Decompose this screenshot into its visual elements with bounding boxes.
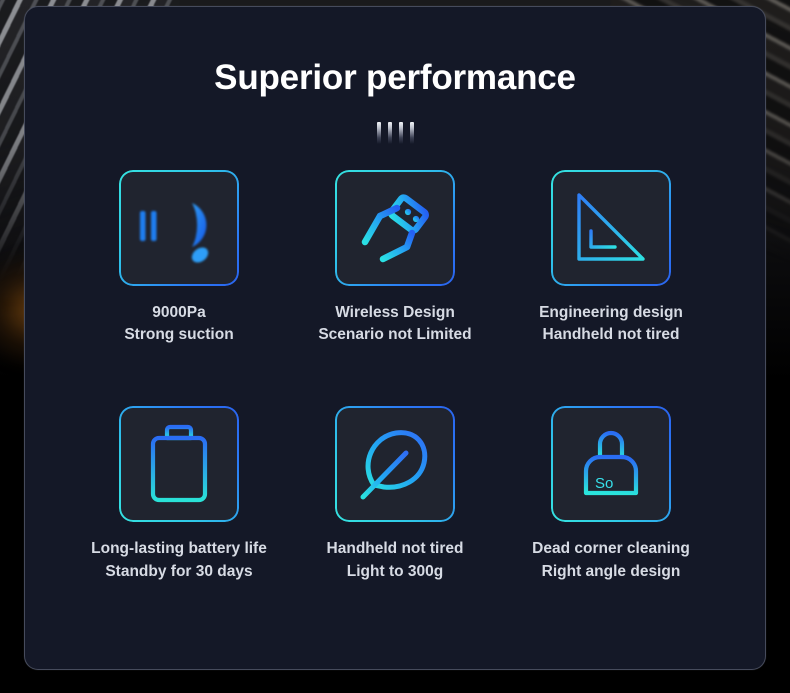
feature-item: Handheld not tired Light to 300g bbox=[287, 406, 503, 583]
decorative-ticks bbox=[25, 122, 765, 144]
feature-caption: 9000Pa Strong suction bbox=[124, 302, 233, 347]
feature-icon-card[interactable] bbox=[335, 170, 455, 286]
feature-line-2: Scenario not Limited bbox=[318, 324, 471, 346]
tick-mark bbox=[399, 122, 403, 144]
page-title: Superior performance bbox=[25, 59, 765, 98]
feature-line-2: Handheld not tired bbox=[539, 324, 683, 346]
battery-icon bbox=[144, 423, 214, 505]
set-square-triangle-icon bbox=[571, 189, 651, 267]
feature-item: Long-lasting battery life Standby for 30… bbox=[71, 406, 287, 583]
feature-line-1: Handheld not tired bbox=[327, 540, 464, 557]
feature-item: Engineering design Handheld not tired bbox=[503, 170, 719, 347]
feature-grid: 9000Pa Strong suction bbox=[25, 170, 765, 584]
feature-icon-card[interactable] bbox=[119, 170, 239, 286]
feature-line-1: Engineering design bbox=[539, 304, 683, 321]
feature-line-2: Right angle design bbox=[532, 561, 690, 583]
feature-icon-card[interactable] bbox=[335, 406, 455, 522]
feature-caption: Handheld not tired Light to 300g bbox=[327, 538, 464, 583]
feature-item: So Dead corner cleaning Right angle desi… bbox=[503, 406, 719, 583]
tick-mark bbox=[377, 122, 381, 144]
tick-mark bbox=[388, 122, 392, 144]
feature-caption: Dead corner cleaning Right angle design bbox=[532, 538, 690, 583]
feature-icon-card[interactable] bbox=[551, 170, 671, 286]
feature-line-2: Standby for 30 days bbox=[91, 561, 267, 583]
brush-icon: So bbox=[570, 423, 652, 505]
feature-item: Wireless Design Scenario not Limited bbox=[287, 170, 503, 347]
feature-caption: Long-lasting battery life Standby for 30… bbox=[91, 538, 267, 583]
feature-caption: Wireless Design Scenario not Limited bbox=[318, 302, 471, 347]
feature-panel: Superior performance bbox=[24, 6, 766, 670]
feather-icon bbox=[354, 423, 436, 505]
feature-line-2: Light to 300g bbox=[327, 561, 464, 583]
feature-line-1: 9000Pa bbox=[152, 304, 205, 321]
suction-blur-icon bbox=[134, 189, 224, 267]
brush-icon-label: So bbox=[595, 475, 613, 492]
tick-mark bbox=[410, 122, 414, 144]
usb-plug-icon bbox=[353, 186, 437, 270]
feature-icon-card[interactable]: So bbox=[551, 406, 671, 522]
feature-item: 9000Pa Strong suction bbox=[71, 170, 287, 347]
feature-icon-card[interactable] bbox=[119, 406, 239, 522]
feature-line-1: Long-lasting battery life bbox=[91, 540, 267, 557]
feature-caption: Engineering design Handheld not tired bbox=[539, 302, 683, 347]
feature-line-1: Wireless Design bbox=[335, 304, 455, 321]
feature-line-1: Dead corner cleaning bbox=[532, 540, 690, 557]
feature-line-2: Strong suction bbox=[124, 324, 233, 346]
